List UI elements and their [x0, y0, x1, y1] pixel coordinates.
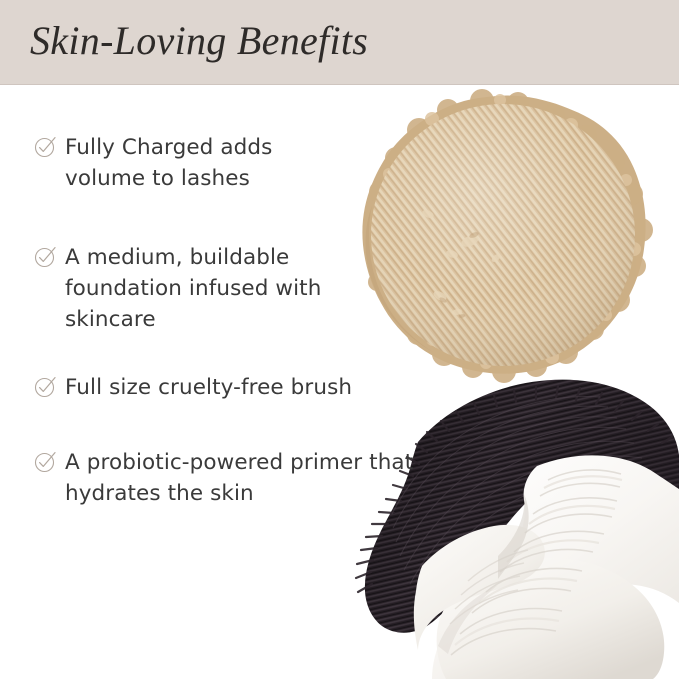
- benefit-text: Full size cruelty-free brush: [65, 372, 352, 403]
- benefit-item: A medium, buildable foundation infused w…: [34, 242, 337, 335]
- product-benefits-card: Skin-Loving Benefits Fully Charged adds …: [0, 0, 679, 679]
- check-circle-icon: [34, 451, 56, 473]
- benefit-item: Full size cruelty-free brush: [34, 372, 352, 403]
- page-title: Skin-Loving Benefits: [30, 14, 368, 68]
- cream-swirl-swatch: [414, 455, 679, 679]
- benefit-text: A medium, buildable foundation infused w…: [65, 242, 337, 335]
- check-circle-icon: [34, 376, 56, 398]
- benefit-text: Fully Charged adds volume to lashes: [65, 132, 325, 194]
- benefit-item: A probiotic-powered primer that hydrates…: [34, 447, 427, 509]
- check-circle-icon: [34, 246, 56, 268]
- benefit-item: Fully Charged adds volume to lashes: [34, 132, 325, 194]
- pressed-powder-disc: [362, 89, 653, 383]
- check-circle-icon: [34, 136, 56, 158]
- header-band: Skin-Loving Benefits: [0, 0, 679, 85]
- benefit-text: A probiotic-powered primer that hydrates…: [65, 447, 427, 509]
